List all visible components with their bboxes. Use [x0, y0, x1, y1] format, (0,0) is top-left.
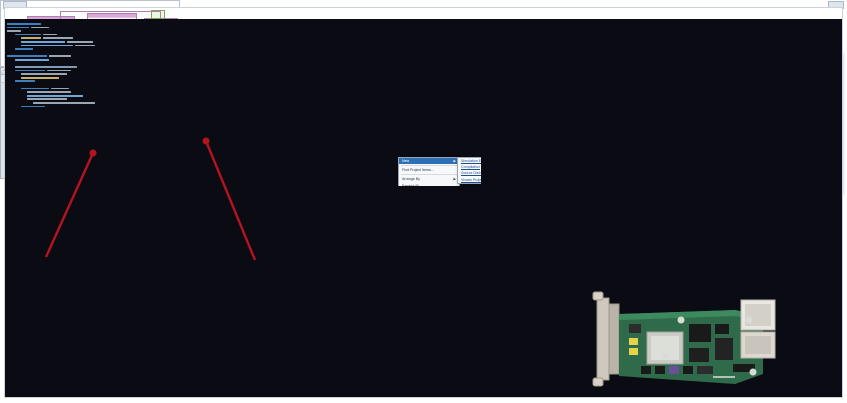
chevron-right-icon: ▶: [454, 159, 456, 163]
chevron-right-icon: ▶: [454, 177, 456, 181]
context-menu-item-find-project-items[interactable]: Find Project Items...: [399, 167, 459, 173]
submenu-item-vivado-project-export[interactable]: Vivado Project Export: [458, 177, 482, 183]
context-menu-label: Find Project Items...: [402, 168, 434, 172]
vhdl-editor-window[interactable]: UserCode.vhd: [0, 67, 135, 179]
submenu-label: Source Distribution: [461, 171, 482, 175]
context-menu-label: Arrange By: [402, 177, 420, 181]
context-menu-item-new[interactable]: New ▶: [399, 158, 459, 164]
submenu-label: Compilation: [461, 165, 480, 169]
submenu-label: Vivado Project Export: [461, 178, 482, 182]
menu-separator: [401, 165, 457, 166]
fpga-board-photo: [585, 280, 780, 398]
menu-separator: [401, 174, 457, 175]
submenu-label: Simulation Export: [461, 159, 482, 163]
context-menu-label: New: [402, 159, 409, 163]
project-context-menu[interactable]: New ▶ Find Project Items... Arrange By ▶…: [398, 157, 460, 187]
new-submenu[interactable]: Simulation Export Compilation Source Dis…: [457, 157, 482, 184]
